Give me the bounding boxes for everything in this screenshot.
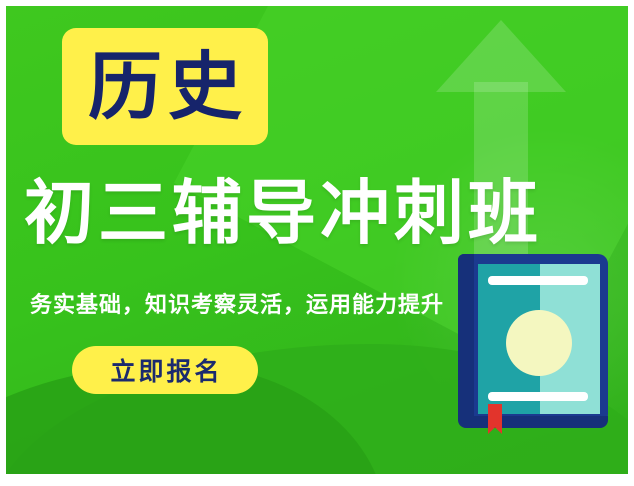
book-icon [458,254,608,434]
subject-badge: 历史 [62,28,268,145]
book-spine-shape [458,254,474,424]
book-circle-shape [506,310,572,376]
enroll-now-button-label: 立即报名 [107,352,222,388]
subject-badge-label: 历史 [82,50,248,124]
enroll-now-button[interactable]: 立即报名 [72,346,258,394]
book-bottom-edge-shape [458,416,608,428]
poster-background: 历史 初三辅导冲刺班 务实基础，知识考察灵活，运用能力提升 立即报名 [6,6,628,474]
book-line-bottom-shape [488,392,588,401]
book-line-top-shape [488,276,588,285]
page-title: 初三辅导冲刺班 [24,178,624,248]
poster-subtitle: 务实基础，知识考察灵活，运用能力提升 [30,287,444,319]
book-bookmark-shape [488,404,502,434]
poster-canvas: 历史 初三辅导冲刺班 务实基础，知识考察灵活，运用能力提升 立即报名 [0,0,634,486]
